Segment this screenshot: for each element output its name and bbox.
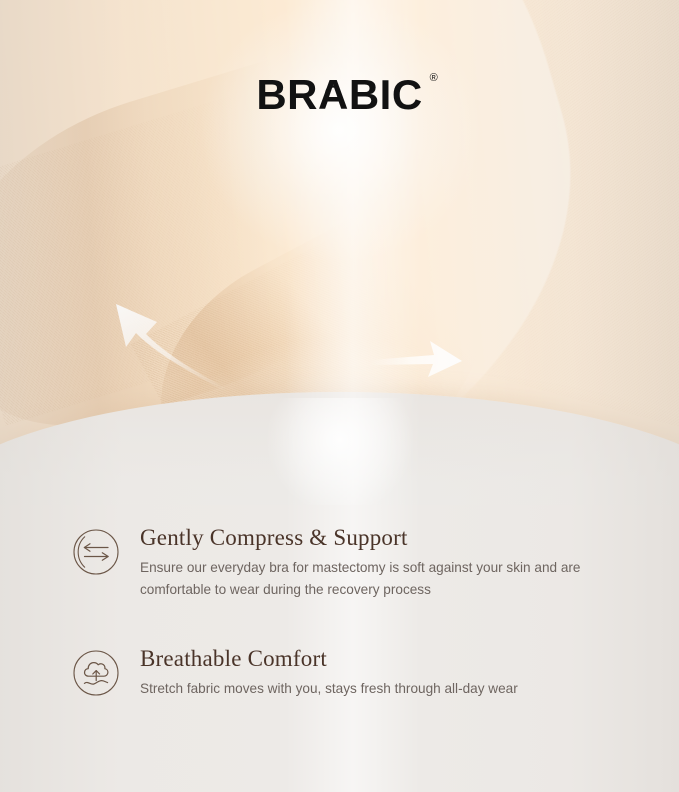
feature-description: Stretch fabric moves with you, stays fre… (140, 678, 618, 700)
feature-text-breathable: Breathable Comfort Stretch fabric moves … (140, 645, 679, 700)
feature-text-compress: Gently Compress & Support Ensure our eve… (140, 524, 679, 601)
logo-letters-bic: BIC (349, 74, 423, 116)
stretch-arrow-right-icon (368, 336, 464, 382)
brand-logo: BRA BIC® (0, 74, 679, 116)
feature-list: Gently Compress & Support Ensure our eve… (0, 524, 679, 700)
logo-letters-br: BR (256, 74, 318, 116)
product-marketing-image: BRA BIC® (0, 0, 679, 792)
stretch-arrow-left-icon (108, 300, 234, 390)
feature-title: Gently Compress & Support (140, 524, 679, 551)
registered-trademark-symbol: ® (430, 73, 438, 84)
breathable-cloud-icon (72, 649, 120, 697)
feature-item-compress: Gently Compress & Support Ensure our eve… (0, 524, 679, 601)
compress-arrows-icon (72, 528, 120, 576)
logo-crown-accent-icon (324, 61, 342, 103)
feature-item-breathable: Breathable Comfort Stretch fabric moves … (0, 645, 679, 700)
feature-title: Breathable Comfort (140, 645, 679, 672)
brand-logo-text: BRA BIC® (256, 74, 422, 116)
feature-description: Ensure our everyday bra for mastectomy i… (140, 557, 618, 601)
logo-letter-a-accented: A (318, 74, 349, 116)
